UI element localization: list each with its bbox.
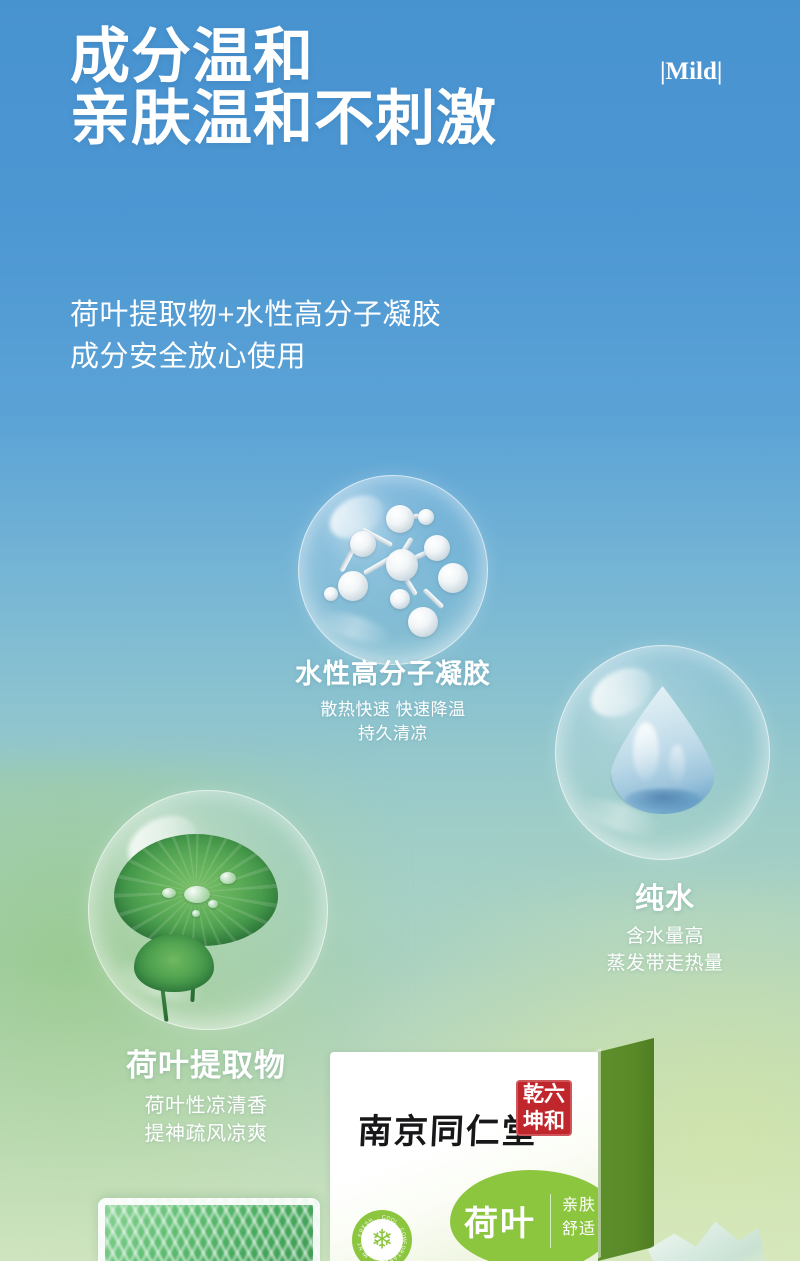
- molecule-icon: [298, 475, 488, 665]
- brand-seal-line-2: 坤和: [516, 1108, 572, 1135]
- feature-subtitle-water-line-1: 含水量高: [560, 924, 770, 951]
- feature-subtitle-water-line-2: 蒸发带走热量: [560, 951, 770, 978]
- feature-title-gel: 水性高分子凝胶: [276, 652, 510, 691]
- page-subtitle-line-1: 荷叶提取物+水性高分子凝胶: [70, 294, 441, 336]
- mild-badge: |Mild|: [660, 58, 722, 86]
- package-front-panel: 南京同仁堂 乾六 坤和 荷叶 亲肤 舒适 COOL COMFORTABLE · …: [330, 1052, 598, 1261]
- water-drop-body: [611, 686, 715, 814]
- feature-caption-lotus: 荷叶提取物 荷叶性凉清香 提神疏风凉爽: [58, 1040, 354, 1149]
- product-flavor-subtext-line-1: 亲肤: [562, 1194, 596, 1218]
- water-drop-highlight: [633, 722, 659, 780]
- lotus-leaf-icon: [88, 790, 328, 1030]
- feature-subtitle-gel: 散热快速 快速降温 持久清凉: [276, 698, 510, 746]
- feature-title-water: 纯水: [560, 875, 770, 917]
- product-flavor-subtext-line-2: 舒适: [562, 1218, 596, 1242]
- brand-seal: 乾六 坤和: [516, 1080, 572, 1136]
- feature-subtitle-lotus-line-2: 提神疏风凉爽: [58, 1120, 354, 1148]
- water-drop-highlight-secondary: [669, 744, 685, 784]
- bubble-highlight-icon: [323, 487, 391, 547]
- feature-subtitle-lotus-line-1: 荷叶性凉清香: [58, 1092, 354, 1120]
- page-subtitle-line-2: 成分安全放心使用: [70, 336, 441, 378]
- feature-subtitle-gel-line-1: 散热快速 快速降温: [276, 698, 510, 722]
- feature-bubble-gel: [298, 475, 488, 665]
- feature-caption-gel: 水性高分子凝胶 散热快速 快速降温 持久清凉: [276, 652, 510, 746]
- product-flavor-subtext: 亲肤 舒适: [562, 1194, 596, 1242]
- feature-bubble-lotus: [88, 790, 328, 1030]
- feature-title-lotus: 荷叶提取物: [58, 1040, 354, 1085]
- product-package: 南京同仁堂 乾六 坤和 荷叶 亲肤 舒适 COOL COMFORTABLE · …: [330, 1038, 670, 1261]
- blob-divider: [550, 1194, 551, 1248]
- water-drop-icon: [611, 686, 715, 814]
- feature-bubble-water: [555, 645, 770, 860]
- feature-subtitle-water: 含水量高 蒸发带走热量: [560, 924, 770, 978]
- brand-name: 南京同仁堂: [357, 1104, 540, 1153]
- lotus-leaf-large: [114, 834, 278, 946]
- bubble-highlight-icon: [583, 658, 660, 726]
- page-subtitle: 荷叶提取物+水性高分子凝胶 成分安全放心使用: [70, 294, 441, 378]
- cooling-badge-inner: ❄: [361, 1219, 403, 1261]
- cooling-badge: COOL COMFORTABLE · MINT FRESH · ❄: [352, 1210, 412, 1261]
- product-flavor-blob: 荷叶 亲肤 舒适: [450, 1170, 598, 1261]
- water-drop-base-shadow: [625, 788, 701, 810]
- page-title-line-2: 亲肤温和不刺激: [70, 88, 497, 150]
- bubble-highlight-icon: [119, 805, 205, 881]
- feature-caption-water: 纯水 含水量高 蒸发带走热量: [560, 875, 770, 978]
- page-title: 成分温和 亲肤温和不刺激: [70, 26, 497, 151]
- lotus-leaf-small: [134, 934, 214, 992]
- snowflake-icon: ❄: [371, 1227, 394, 1254]
- feature-subtitle-lotus: 荷叶性凉清香 提神疏风凉爽: [58, 1092, 354, 1149]
- feature-subtitle-gel-line-2: 持久清凉: [276, 722, 510, 746]
- package-side-panel: [598, 1038, 654, 1261]
- page-title-line-1: 成分温和: [70, 23, 314, 90]
- product-poster: 成分温和 亲肤温和不刺激 |Mild| 荷叶提取物+水性高分子凝胶 成分安全放心…: [0, 0, 800, 1261]
- brand-seal-line-1: 乾六: [516, 1081, 572, 1108]
- cooling-gel-patch: [98, 1198, 320, 1261]
- product-flavor-name: 荷叶: [464, 1196, 536, 1245]
